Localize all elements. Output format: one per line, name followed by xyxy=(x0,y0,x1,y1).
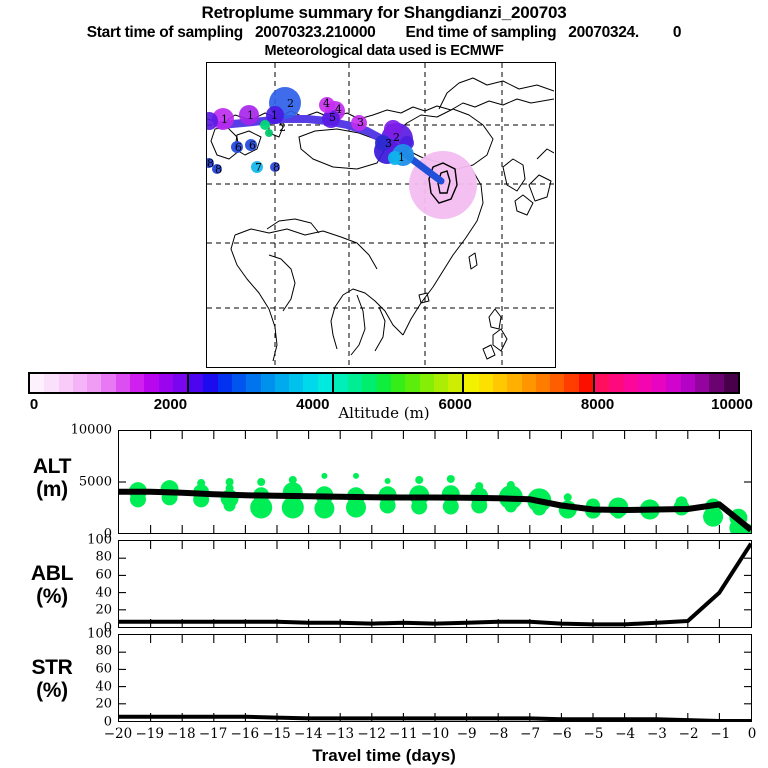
colorbar-cell xyxy=(73,374,87,392)
colorbar-cell xyxy=(303,374,317,392)
abl-plot-frame xyxy=(118,540,752,628)
series-line xyxy=(119,544,751,625)
str-ytick-20: 20 xyxy=(36,697,112,712)
colorbar-cell xyxy=(232,374,246,392)
map-frame: 1 2 3 3 4 5 4 2 1 1 1 2 6 6 7 8 8 xyxy=(206,62,556,368)
x-axis-tick: −6 xyxy=(552,726,572,742)
sampling-time-line: Start time of sampling 20070323.210000 E… xyxy=(0,23,768,42)
colorbar-cell xyxy=(493,374,507,392)
series-line xyxy=(119,492,751,530)
x-axis-tick: −14 xyxy=(294,726,323,742)
colorbar-cell xyxy=(464,374,478,392)
x-axis-tick: −2 xyxy=(679,726,699,742)
colorbar-cell xyxy=(116,374,130,392)
colorbar-cell xyxy=(420,374,434,392)
alt-plot-canvas xyxy=(119,431,751,533)
x-axis-tick: −13 xyxy=(326,726,355,742)
colorbar-cell xyxy=(507,374,521,392)
abl-ytick-60: 60 xyxy=(36,568,112,583)
colorbar-cell xyxy=(434,374,448,392)
svg-text:8: 8 xyxy=(215,163,222,176)
str-panel xyxy=(118,634,752,722)
svg-text:8: 8 xyxy=(273,161,280,174)
colorbar-cell xyxy=(318,374,332,392)
x-axis-tick: −1 xyxy=(710,726,730,742)
alt-panel xyxy=(118,430,752,534)
colorbar-cell xyxy=(173,374,187,392)
start-time-value: 20070323.210000 xyxy=(255,24,376,41)
colorbar-cell xyxy=(595,374,609,392)
colorbar-cell xyxy=(405,374,419,392)
abl-plot-canvas xyxy=(119,541,751,627)
alt-ytick-5000: 5000 xyxy=(36,475,112,490)
map-canvas: 1 2 3 3 4 5 4 2 1 1 1 2 6 6 7 8 8 xyxy=(207,63,554,366)
graticule-lines xyxy=(207,63,554,366)
altitude-scatter xyxy=(129,473,751,533)
plume-bubbles xyxy=(207,87,414,174)
svg-text:8: 8 xyxy=(207,157,214,170)
svg-text:7: 7 xyxy=(255,161,262,174)
x-axis-tick: −10 xyxy=(421,726,450,742)
colorbar-cell xyxy=(536,374,550,392)
svg-text:5: 5 xyxy=(329,111,336,124)
colorbar-cell xyxy=(695,374,709,392)
axis-ticks xyxy=(151,635,720,721)
str-ytick-100: 100 xyxy=(36,627,112,642)
colorbar-cell xyxy=(391,374,405,392)
start-time-label: Start time of sampling xyxy=(87,24,243,41)
colorbar-cell xyxy=(479,374,493,392)
figure-header: Retroplume summary for Shangdianzi_20070… xyxy=(0,0,768,60)
x-axis-tick: −5 xyxy=(584,726,604,742)
page-title: Retroplume summary for Shangdianzi_20070… xyxy=(0,3,768,23)
x-axis-tick: −9 xyxy=(457,726,477,742)
retroplume-summary-figure: Retroplume summary for Shangdianzi_20070… xyxy=(0,0,768,768)
x-axis-tick: −20 xyxy=(104,726,133,742)
svg-text:1: 1 xyxy=(221,113,228,126)
colorbar-cell xyxy=(144,374,158,392)
svg-text:2: 2 xyxy=(287,97,294,110)
abl-ytick-20: 20 xyxy=(36,603,112,618)
colorbar-gradient xyxy=(28,372,740,394)
colorbar-cell xyxy=(579,374,593,392)
x-axis-tick: −11 xyxy=(389,726,418,742)
str-ytick-40: 40 xyxy=(36,680,112,695)
colorbar-cell xyxy=(709,374,723,392)
svg-text:2: 2 xyxy=(279,121,286,134)
colorbar-cell xyxy=(377,374,391,392)
colorbar-cell xyxy=(666,374,680,392)
svg-text:6: 6 xyxy=(235,141,242,154)
x-axis-tick: −3 xyxy=(647,726,667,742)
colorbar-cell xyxy=(159,374,173,392)
colorbar-cell xyxy=(564,374,578,392)
str-ytick-0: 0 xyxy=(36,715,112,730)
colorbar-cell xyxy=(348,374,362,392)
alt-plot-frame xyxy=(118,430,752,534)
colorbar-cell xyxy=(624,374,638,392)
y-axis-ticks xyxy=(119,558,751,610)
colorbar-cell xyxy=(189,374,203,392)
end-time-label: End time of sampling xyxy=(406,24,557,41)
colorbar-cell xyxy=(203,374,217,392)
colorbar-cell xyxy=(362,374,376,392)
x-axis-tick: −7 xyxy=(520,726,540,742)
x-axis-tick: −18 xyxy=(167,726,196,742)
colorbar-axis-label: Altitude (m) xyxy=(0,404,768,422)
x-axis-tick: −17 xyxy=(199,726,228,742)
x-axis-tick: −4 xyxy=(615,726,635,742)
svg-text:4: 4 xyxy=(323,97,330,110)
x-axis-tick: 0 xyxy=(748,726,757,742)
str-ytick-80: 80 xyxy=(36,644,112,659)
svg-text:1: 1 xyxy=(247,109,254,122)
colorbar-cell xyxy=(609,374,623,392)
met-data-line: Meteorological data used is ECMWF xyxy=(0,42,768,60)
x-axis-tick: −8 xyxy=(488,726,508,742)
colorbar-cell xyxy=(59,374,73,392)
colorbar-cell xyxy=(724,374,738,392)
colorbar-cell xyxy=(275,374,289,392)
svg-text:4: 4 xyxy=(335,103,342,116)
colorbar-cell xyxy=(101,374,115,392)
abl-ytick-100: 100 xyxy=(36,533,112,548)
colorbar-cell xyxy=(550,374,564,392)
end-time-extra: 0 xyxy=(673,24,681,41)
x-axis-tick: −12 xyxy=(357,726,386,742)
colorbar-cell xyxy=(522,374,536,392)
y-axis-ticks xyxy=(119,652,751,704)
altitude-colorbar: 0200040006000800010000 xyxy=(28,372,740,394)
colorbar-cell xyxy=(448,374,462,392)
colorbar-cell xyxy=(218,374,232,392)
colorbar-cell xyxy=(638,374,652,392)
svg-text:3: 3 xyxy=(357,116,364,129)
abl-panel xyxy=(118,540,752,628)
svg-text:1: 1 xyxy=(271,109,278,122)
colorbar-cell xyxy=(652,374,666,392)
colorbar-cell xyxy=(289,374,303,392)
colorbar-cell xyxy=(130,374,144,392)
colorbar-cell xyxy=(261,374,275,392)
x-axis-label: Travel time (days) xyxy=(0,746,768,766)
end-time-value: 20070324. xyxy=(568,24,639,41)
colorbar-cell xyxy=(87,374,101,392)
svg-text:3: 3 xyxy=(385,137,392,150)
svg-text:6: 6 xyxy=(249,139,256,152)
x-axis-tick: −16 xyxy=(231,726,260,742)
colorbar-cell xyxy=(334,374,348,392)
axis-ticks xyxy=(151,541,720,627)
alt-ytick-10000: 10000 xyxy=(36,423,112,438)
map-panel: 1 2 3 3 4 5 4 2 1 1 1 2 6 6 7 8 8 xyxy=(206,62,556,368)
abl-ytick-80: 80 xyxy=(36,550,112,565)
svg-text:1: 1 xyxy=(398,151,405,164)
abl-ytick-40: 40 xyxy=(36,586,112,601)
svg-text:2: 2 xyxy=(393,131,400,144)
x-axis-tick: −19 xyxy=(135,726,164,742)
colorbar-cell xyxy=(30,374,44,392)
x-axis-tick: −15 xyxy=(262,726,291,742)
colorbar-cell xyxy=(44,374,58,392)
str-ytick-60: 60 xyxy=(36,662,112,677)
str-plot-canvas xyxy=(119,635,751,721)
colorbar-cell xyxy=(681,374,695,392)
colorbar-cell xyxy=(246,374,260,392)
str-plot-frame xyxy=(118,634,752,722)
axis-ticks xyxy=(151,431,720,533)
